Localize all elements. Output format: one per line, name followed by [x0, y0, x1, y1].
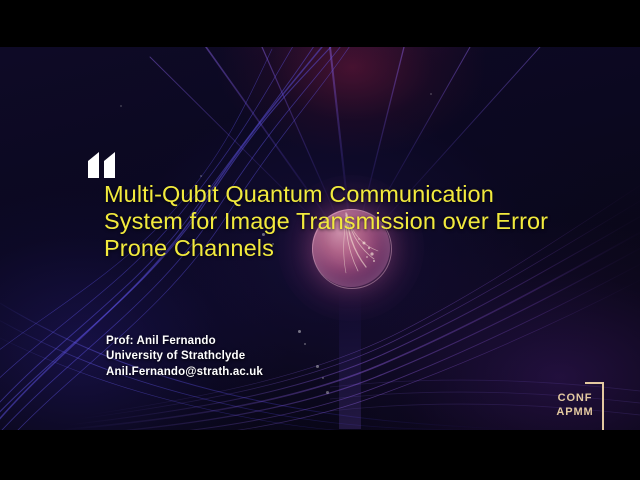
author-block: Prof: Anil Fernando University of Strath…: [106, 334, 263, 380]
quotation-mark-icon: [87, 151, 119, 179]
particle: [322, 377, 324, 379]
slide-artwork-frame: Multi-Qubit Quantum Communication System…: [0, 47, 640, 430]
logo-line-2: APMM: [552, 406, 598, 420]
slide-title: Multi-Qubit Quantum Communication System…: [104, 181, 604, 262]
particle: [326, 391, 329, 394]
logo-text: CONF APMM: [552, 392, 598, 419]
particle: [298, 330, 301, 333]
particle: [316, 365, 319, 368]
title-line-1: Multi-Qubit Quantum Communication: [104, 181, 604, 208]
title-line-2: System for Image Transmission over Error: [104, 208, 604, 235]
particle: [304, 343, 306, 345]
conference-logo: CONF APMM: [548, 380, 612, 430]
particle: [120, 105, 122, 107]
particle: [200, 175, 202, 177]
author-email: Anil.Fernando@strath.ac.uk: [106, 365, 263, 380]
author-affiliation: University of Strathclyde: [106, 349, 263, 364]
particle: [430, 93, 432, 95]
presentation-slide: Multi-Qubit Quantum Communication System…: [0, 0, 640, 480]
logo-line-1: CONF: [552, 392, 598, 406]
letterbox-bottom: [0, 430, 640, 480]
title-line-3: Prone Channels: [104, 235, 604, 262]
letterbox-top: [0, 0, 640, 47]
author-name: Prof: Anil Fernando: [106, 334, 263, 349]
